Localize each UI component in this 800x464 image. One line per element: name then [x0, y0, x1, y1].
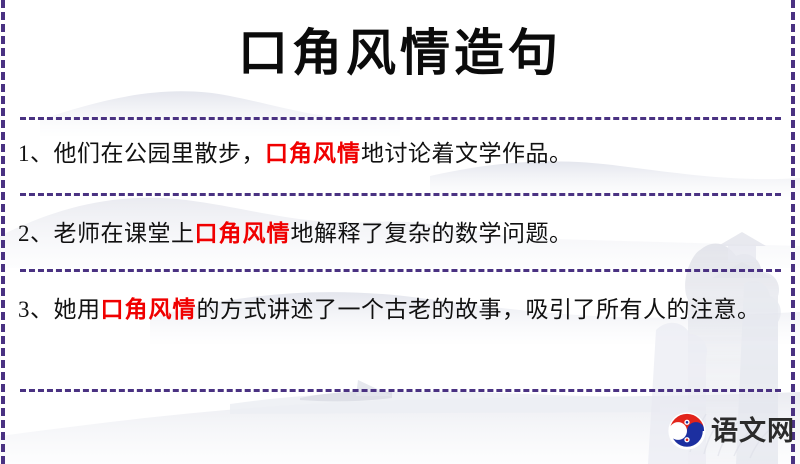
sentence-item-3: 3、她用口角风情的方式讲述了一个古老的故事，吸引了所有人的注意。 — [18, 288, 778, 332]
sentence-item-1: 1、他们在公园里散步，口角风情地讨论着文学作品。 — [18, 132, 778, 176]
frame-border-right — [791, 0, 795, 464]
keyword-highlight-3: 口角风情 — [101, 297, 197, 322]
separator-line-1 — [20, 117, 781, 120]
sentence-text-after-2: 地解释了复杂的数学问题。 — [291, 221, 573, 246]
sentence-item-2: 2、老师在课堂上口角风情地解释了复杂的数学问题。 — [18, 212, 778, 256]
keyword-highlight-1: 口角风情 — [265, 141, 361, 166]
sentence-text-after-1: 地讨论着文学作品。 — [361, 141, 573, 166]
separator-line-3 — [20, 269, 781, 272]
page-title: 口角风情造句 — [0, 22, 800, 84]
frame-border-left — [1, 0, 5, 464]
sentence-worksheet-page: 口角风情造句 1、他们在公园里散步，口角风情地讨论着文学作品。 2、老师在课堂上… — [0, 0, 800, 464]
sentence-text-before-3: 她用 — [54, 297, 101, 322]
site-brand-watermark: 语文网 — [668, 411, 795, 451]
sentence-text-after-3: 的方式讲述了一个古老的故事，吸引了所有人的注意。 — [197, 297, 761, 322]
sentence-index-3: 3、 — [18, 297, 54, 322]
keyword-highlight-2: 口角风情 — [195, 221, 291, 246]
sentence-text-before-1: 他们在公园里散步， — [54, 141, 266, 166]
separator-line-2 — [20, 193, 781, 196]
separator-line-4 — [20, 389, 781, 392]
yin-yang-fish-logo-icon — [668, 412, 706, 450]
sentence-text-before-2: 老师在课堂上 — [54, 221, 195, 246]
brand-name: 语文网 — [711, 416, 795, 446]
sentence-index-1: 1、 — [18, 141, 54, 166]
sentence-index-2: 2、 — [18, 221, 54, 246]
